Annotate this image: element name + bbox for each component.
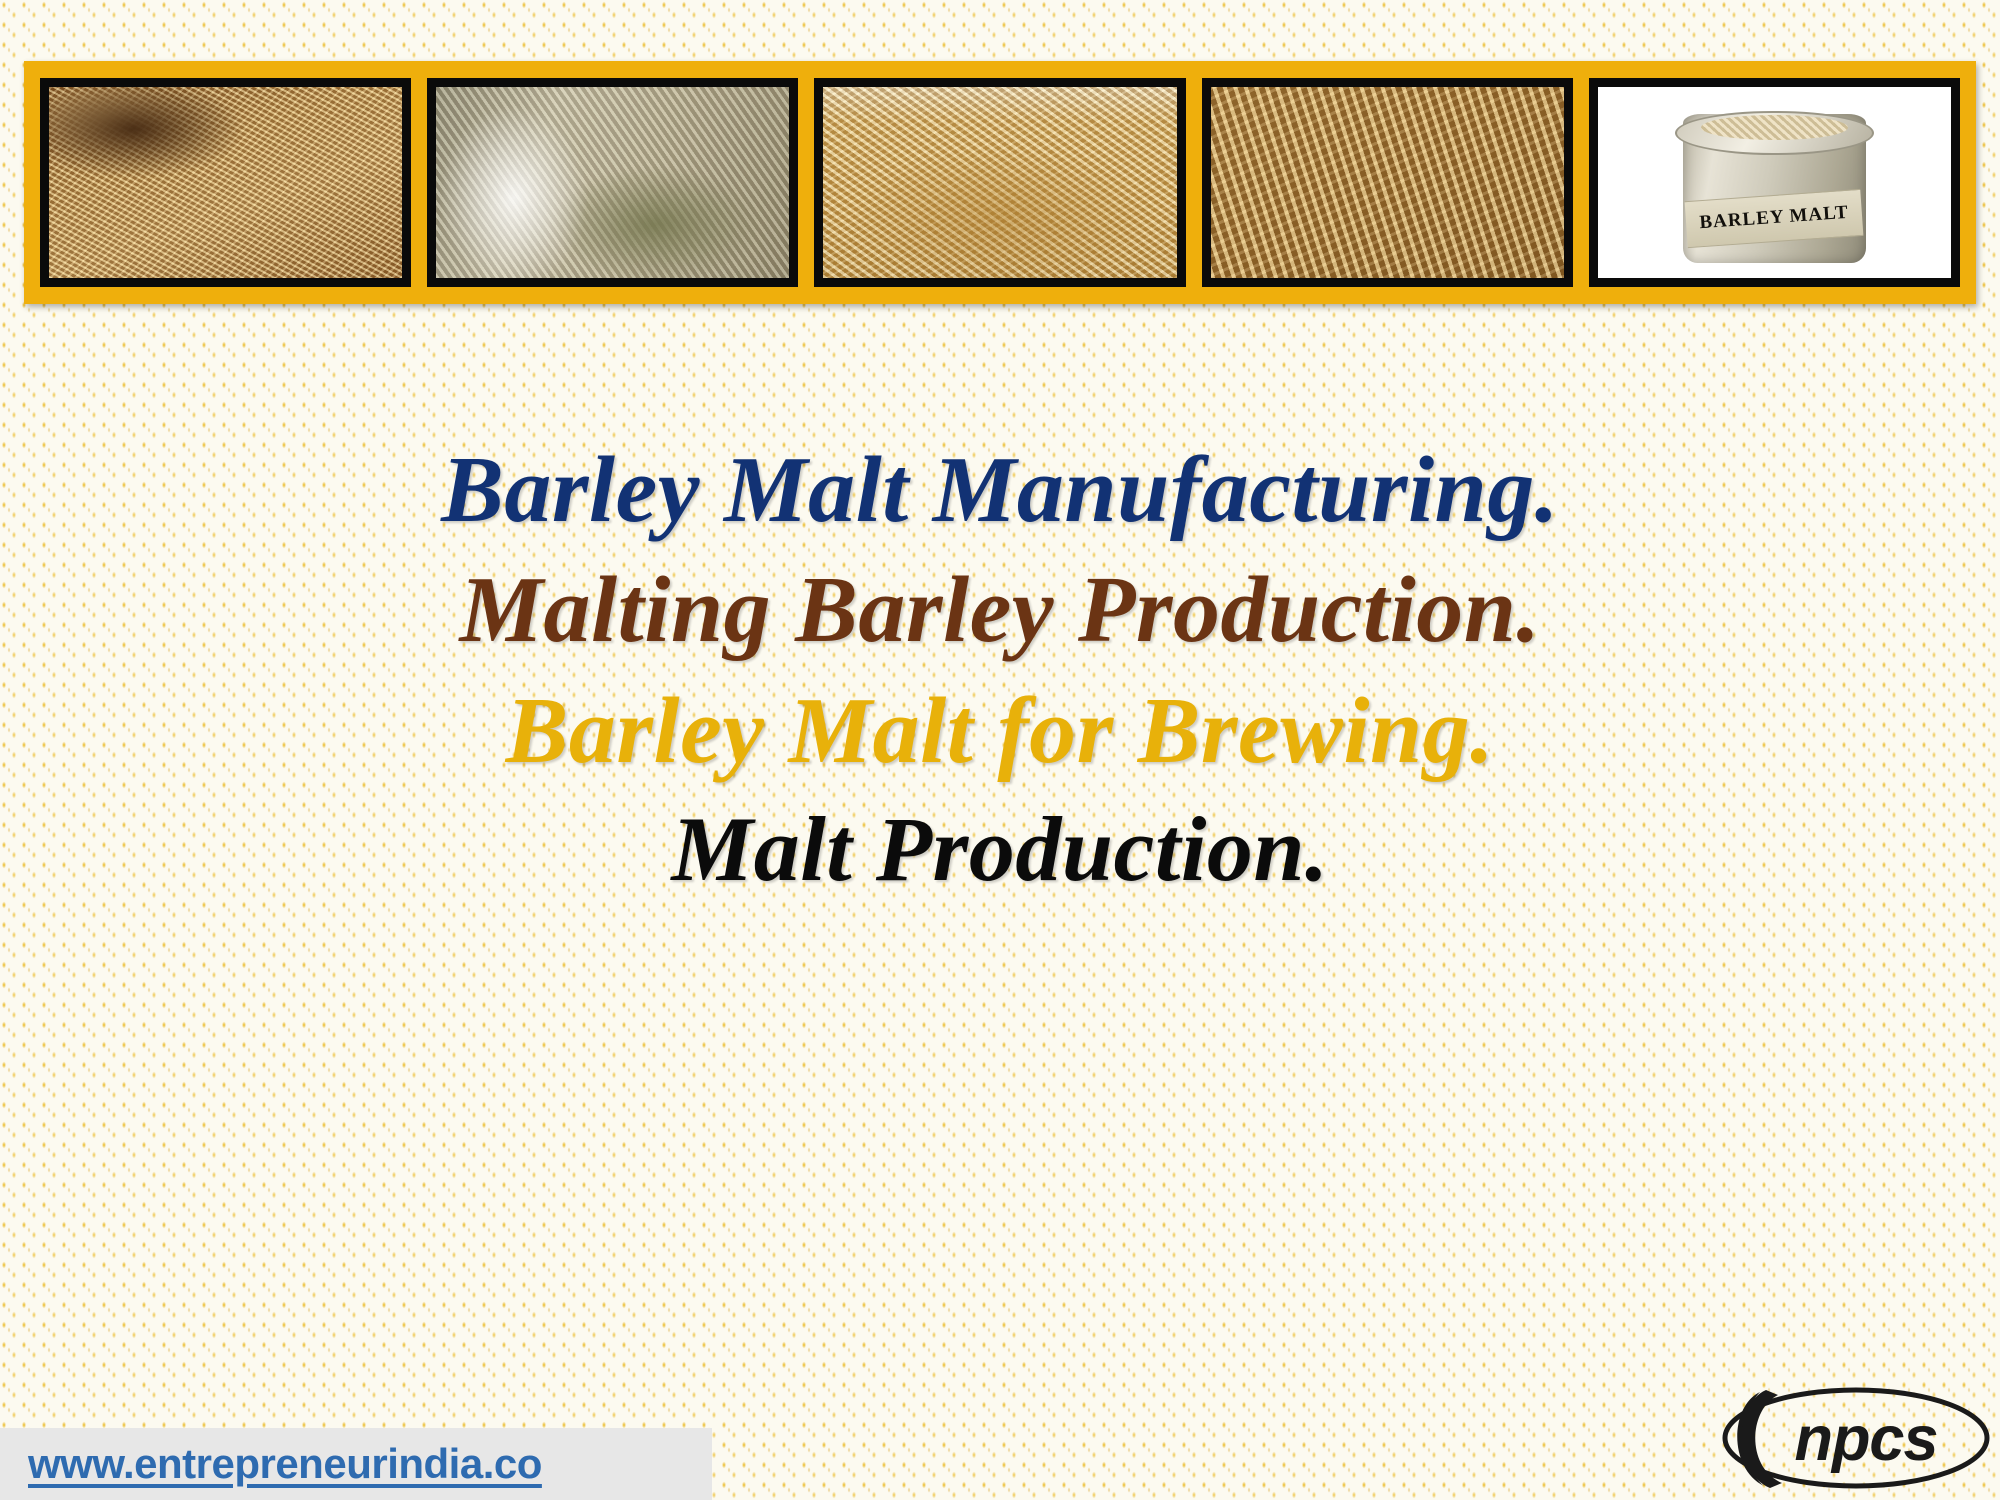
jar-label: BARLEY MALT (1685, 189, 1864, 248)
malt-jar: BARLEY MALT (1683, 114, 1867, 263)
photo-strip: BARLEY MALT (24, 61, 1976, 304)
photo-barley-malt-jar: BARLEY MALT (1589, 78, 1960, 287)
jar-grains (1701, 115, 1849, 140)
photo-pile-of-malted-barley (814, 78, 1185, 287)
photo-burlap-sack-of-barley-grain (40, 78, 411, 287)
jar-rim (1675, 111, 1873, 156)
photo-image: BARLEY MALT (1598, 87, 1951, 278)
jar-label-text: BARLEY MALT (1699, 202, 1850, 234)
photo-image (436, 87, 789, 278)
photo-image (49, 87, 402, 278)
title-line-1: Barley Malt Manufacturing. (0, 430, 2000, 550)
photo-image (823, 87, 1176, 278)
title-line-3: Barley Malt for Brewing. (0, 671, 2000, 791)
npcs-logo: npcs (1720, 1382, 1992, 1494)
title-line-2: Malting Barley Production. (0, 550, 2000, 670)
website-url-link[interactable]: www.entrepreneurindia.co (28, 1440, 542, 1488)
npcs-logo-text: npcs (1794, 1404, 1937, 1474)
photo-barley-falling-into-glass (427, 78, 798, 287)
url-bar: www.entrepreneurindia.co (0, 1428, 712, 1500)
title-block: Barley Malt Manufacturing. Malting Barle… (0, 430, 2000, 909)
photo-closeup-barley-grains (1202, 78, 1573, 287)
slide-canvas: BARLEY MALT Barley Malt Manufacturing. M… (0, 0, 2000, 1500)
title-line-4: Malt Production. (0, 791, 2000, 909)
photo-image (1211, 87, 1564, 278)
